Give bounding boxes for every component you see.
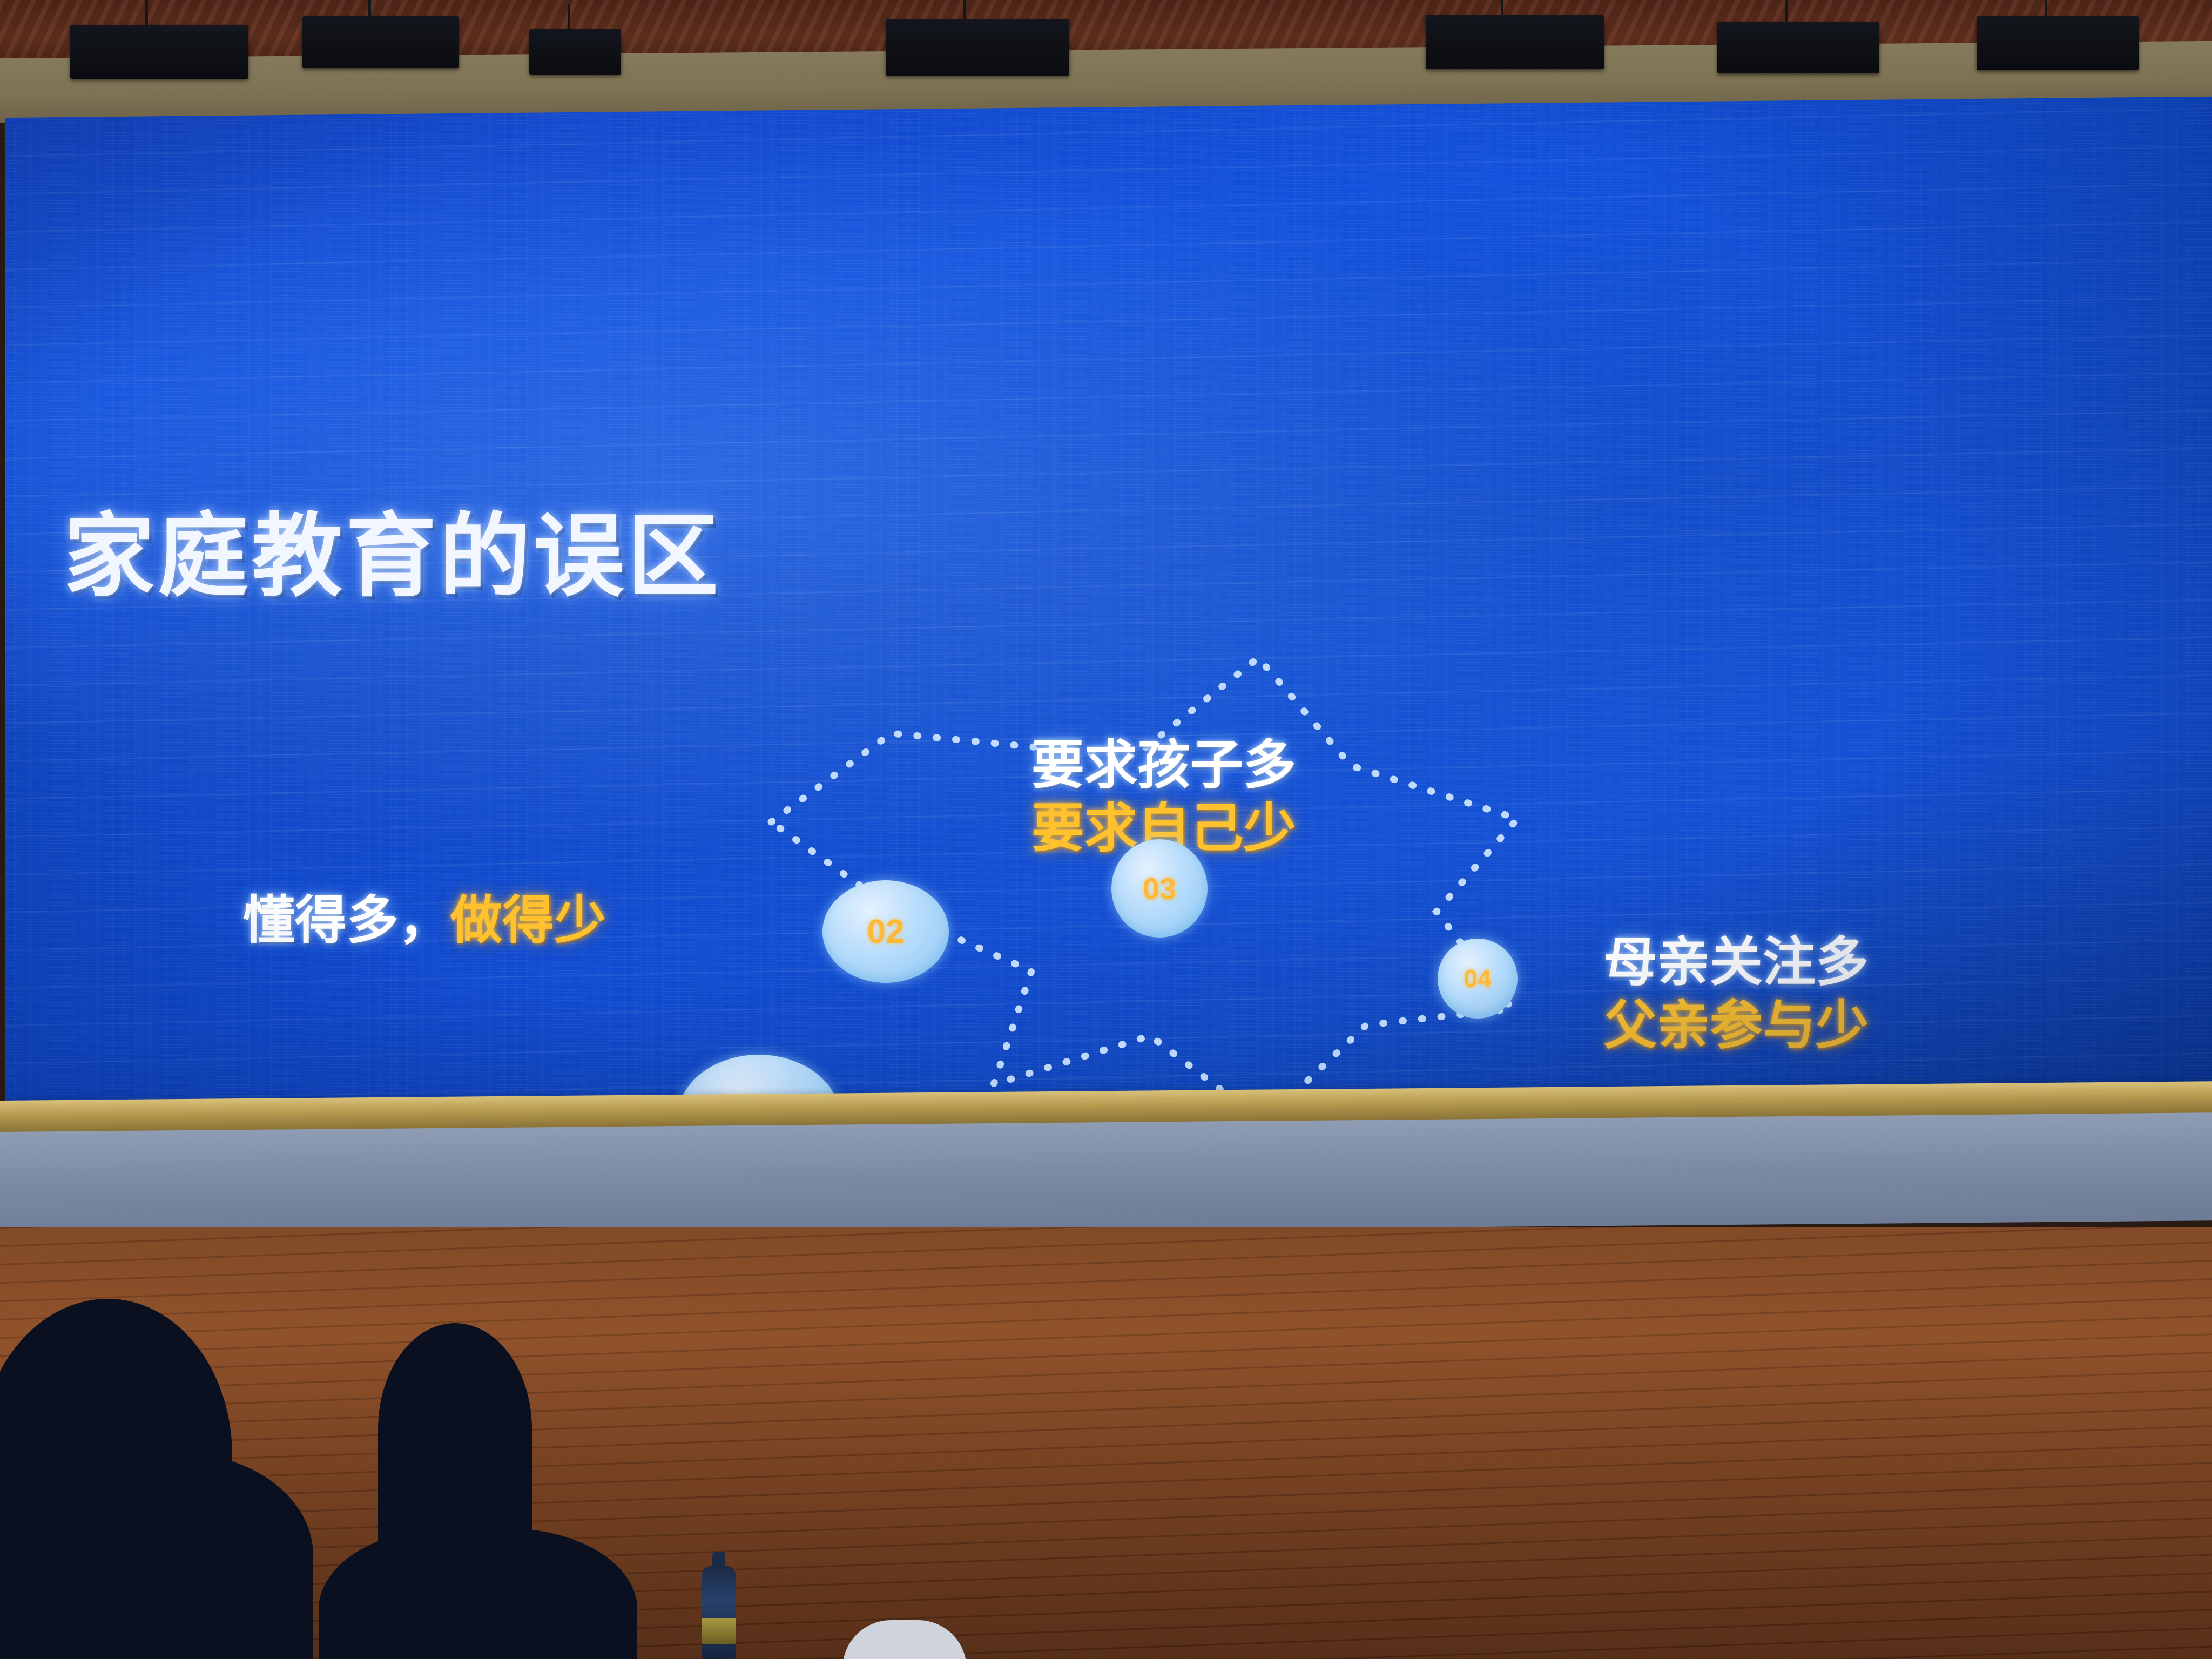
photo-of-presentation-screen: 家庭教育的误区 懂得多，做得少 理论多，工具少 要求孩子多 要求自己少 母亲关注… xyxy=(0,0,2212,1659)
stage-light xyxy=(1977,16,2139,70)
audience-shoulders-center xyxy=(319,1528,637,1659)
stage-light xyxy=(529,29,621,75)
screen-vignette xyxy=(5,97,2212,1114)
bottle-label xyxy=(702,1618,736,1644)
audience-shoulders-left xyxy=(0,1453,313,1659)
stage-light xyxy=(1426,15,1604,69)
water-bottle xyxy=(702,1566,736,1659)
led-presentation-screen: 家庭教育的误区 懂得多，做得少 理论多，工具少 要求孩子多 要求自己少 母亲关注… xyxy=(5,97,2212,1114)
stage-light xyxy=(302,16,459,68)
stage-light xyxy=(1717,22,1879,73)
stage-light xyxy=(886,19,1069,76)
stage-floor xyxy=(0,1112,2212,1240)
stage-light xyxy=(70,25,248,79)
